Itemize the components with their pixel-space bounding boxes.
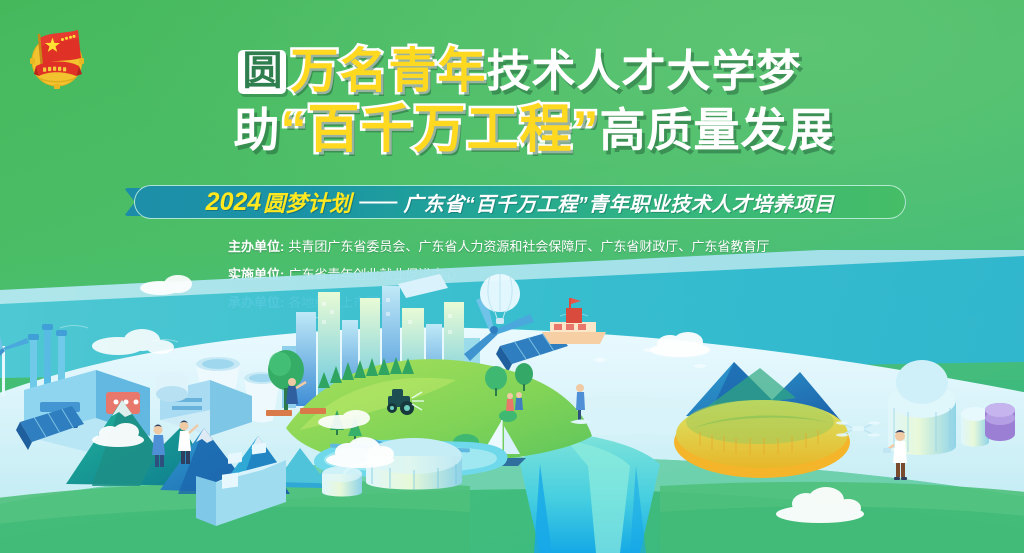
headline-plain-start-2: 助 — [233, 107, 280, 153]
headline-plain-1: 技术人才大学梦 — [487, 50, 802, 94]
headline-highlight-2: “百千万工程” — [280, 104, 599, 156]
headline-line-2: 助“百千万工程”高质量发展 — [44, 104, 1024, 156]
ribbon-subtitle: 广东省“百千万工程”青年职业技术人才培养项目 — [403, 188, 834, 217]
chemical-barrels — [985, 403, 1015, 441]
ribbon-plan: 圆梦计划 — [263, 186, 351, 218]
headline-highlight-1: 万名青年 — [290, 48, 486, 96]
poster-canvas: 圆万名青年技术人才大学梦 助“百千万工程”高质量发展 2024 圆梦计划 —— … — [0, 0, 1024, 553]
ribbon-year: 2024 — [206, 188, 262, 217]
headline: 圆万名青年技术人才大学梦 助“百千万工程”高质量发展 — [0, 48, 1024, 156]
storage-tanks — [888, 360, 989, 455]
ribbon-dash: —— — [359, 191, 395, 214]
subtitle-ribbon: 2024 圆梦计划 —— 广东省“百千万工程”青年职业技术人才培养项目 — [134, 185, 906, 219]
headline-plain-end-2: 高质量发展 — [600, 107, 835, 153]
ribbon-content: 2024 圆梦计划 —— 广东省“百千万工程”青年职业技术人才培养项目 — [134, 185, 906, 219]
headline-line-1: 圆万名青年技术人才大学梦 — [16, 48, 1024, 96]
headline-boxed-char: 圆 — [238, 50, 286, 94]
eco-city-illustration — [0, 250, 1024, 553]
